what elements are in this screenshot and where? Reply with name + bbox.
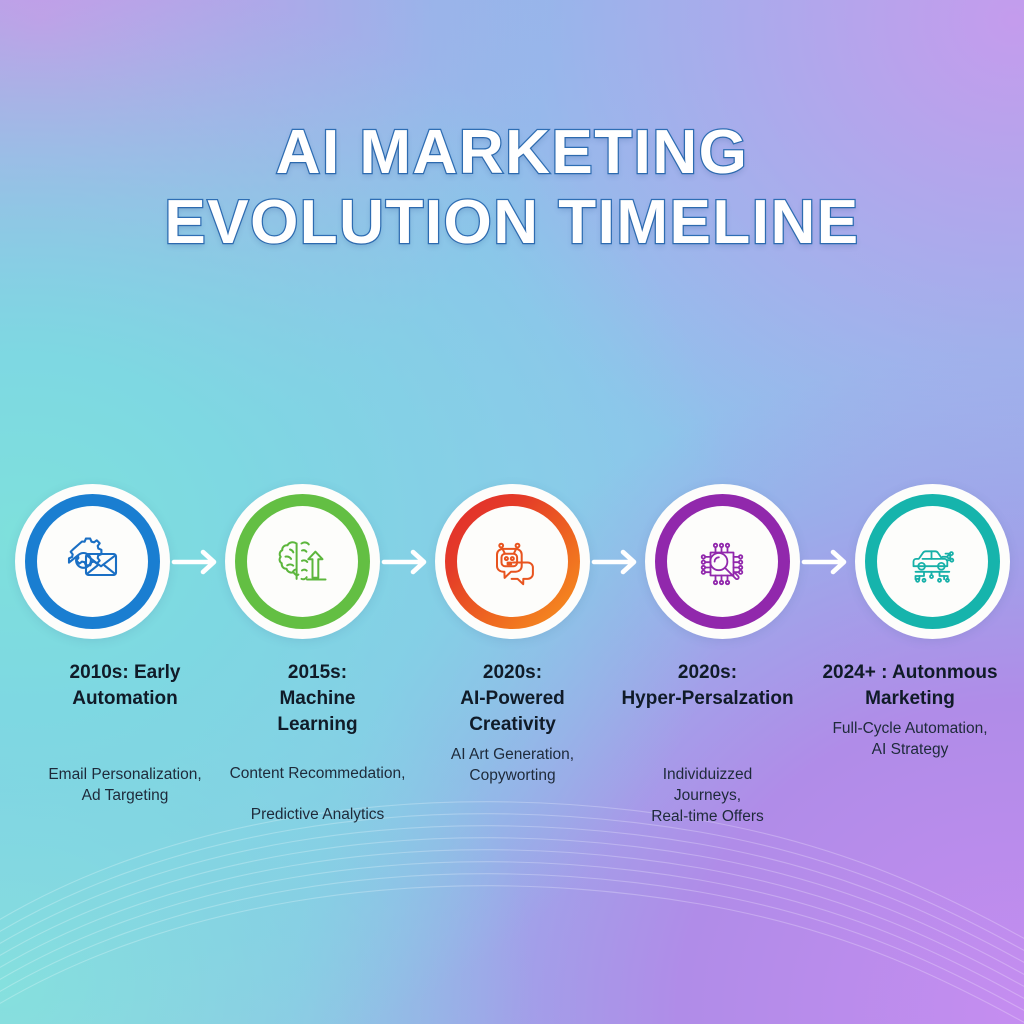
node-icon-area [247, 506, 358, 617]
stage-desc-3: AI Art Generation, Copyworting [425, 744, 600, 786]
stage-heading-2: 2015s: Machine Learning [205, 660, 430, 738]
node-ring-color [865, 494, 1000, 629]
circuit-magnifier-icon [688, 528, 756, 596]
stage-label-2: 2015s: Machine Learning Content Recommed… [205, 660, 430, 825]
node-ring-outer [855, 484, 1010, 639]
timeline-node-2[interactable] [225, 470, 380, 656]
node-icon-area [877, 506, 988, 617]
timeline-arrow-2 [380, 470, 435, 656]
node-ring-outer [435, 484, 590, 639]
brain-growth-arrows-icon [268, 528, 336, 596]
stage-heading-4: 2020s: Hyper-Persalzation [595, 660, 820, 712]
node-icon-area [457, 506, 568, 617]
node-ring-color [25, 494, 160, 629]
title-line-2: EVOLUTION TIMELINE [0, 188, 1024, 258]
stage-label-5: 2024+ : Autonmous Marketing Full-Cycle A… [796, 660, 1024, 760]
timeline-arrow-3 [590, 470, 645, 656]
stage-heading-3: 2020s: AI-Powered Creativity [425, 660, 600, 738]
timeline-node-4[interactable] [645, 470, 800, 656]
stage-desc-4: Individuizzed Journeys, Real-time Offers [595, 764, 820, 827]
arrow-right-icon [384, 552, 424, 572]
node-ring-outer [225, 484, 380, 639]
page-title: AI MARKETING EVOLUTION TIMELINE [0, 118, 1024, 258]
stage-label-4: 2020s: Hyper-Persalzation Individuizzed … [595, 660, 820, 827]
stage-label-3: 2020s: AI-Powered Creativity AI Art Gene… [425, 660, 600, 786]
node-icon-area [667, 506, 778, 617]
timeline-node-5[interactable] [855, 470, 1010, 656]
timeline-arrow-1 [170, 470, 225, 656]
node-ring-color [445, 494, 580, 629]
gear-envelope-icon [58, 528, 126, 596]
timeline-labels: 2010s: Early Automation Email Personaliz… [0, 652, 1024, 882]
autonomous-car-circuit-icon [898, 528, 966, 596]
timeline-track [0, 470, 1024, 670]
timeline-arrow-4 [800, 470, 855, 656]
chatbot-speech-bubble-icon [478, 528, 546, 596]
node-ring-outer [15, 484, 170, 639]
timeline-node-3[interactable] [435, 470, 590, 656]
node-ring-color [235, 494, 370, 629]
timeline-node-1[interactable] [15, 470, 170, 656]
title-line-1: AI MARKETING [0, 118, 1024, 188]
arrow-right-icon [174, 552, 214, 572]
stage-desc-5: Full-Cycle Automation, AI Strategy [796, 718, 1024, 760]
stage-desc-2: Content Recommedation, Predictive Analyt… [205, 763, 430, 825]
arrow-right-icon [804, 552, 844, 572]
node-ring-color [655, 494, 790, 629]
arrow-right-icon [594, 552, 634, 572]
stage-heading-5: 2024+ : Autonmous Marketing [796, 660, 1024, 712]
node-icon-area [37, 506, 148, 617]
node-ring-outer [645, 484, 800, 639]
